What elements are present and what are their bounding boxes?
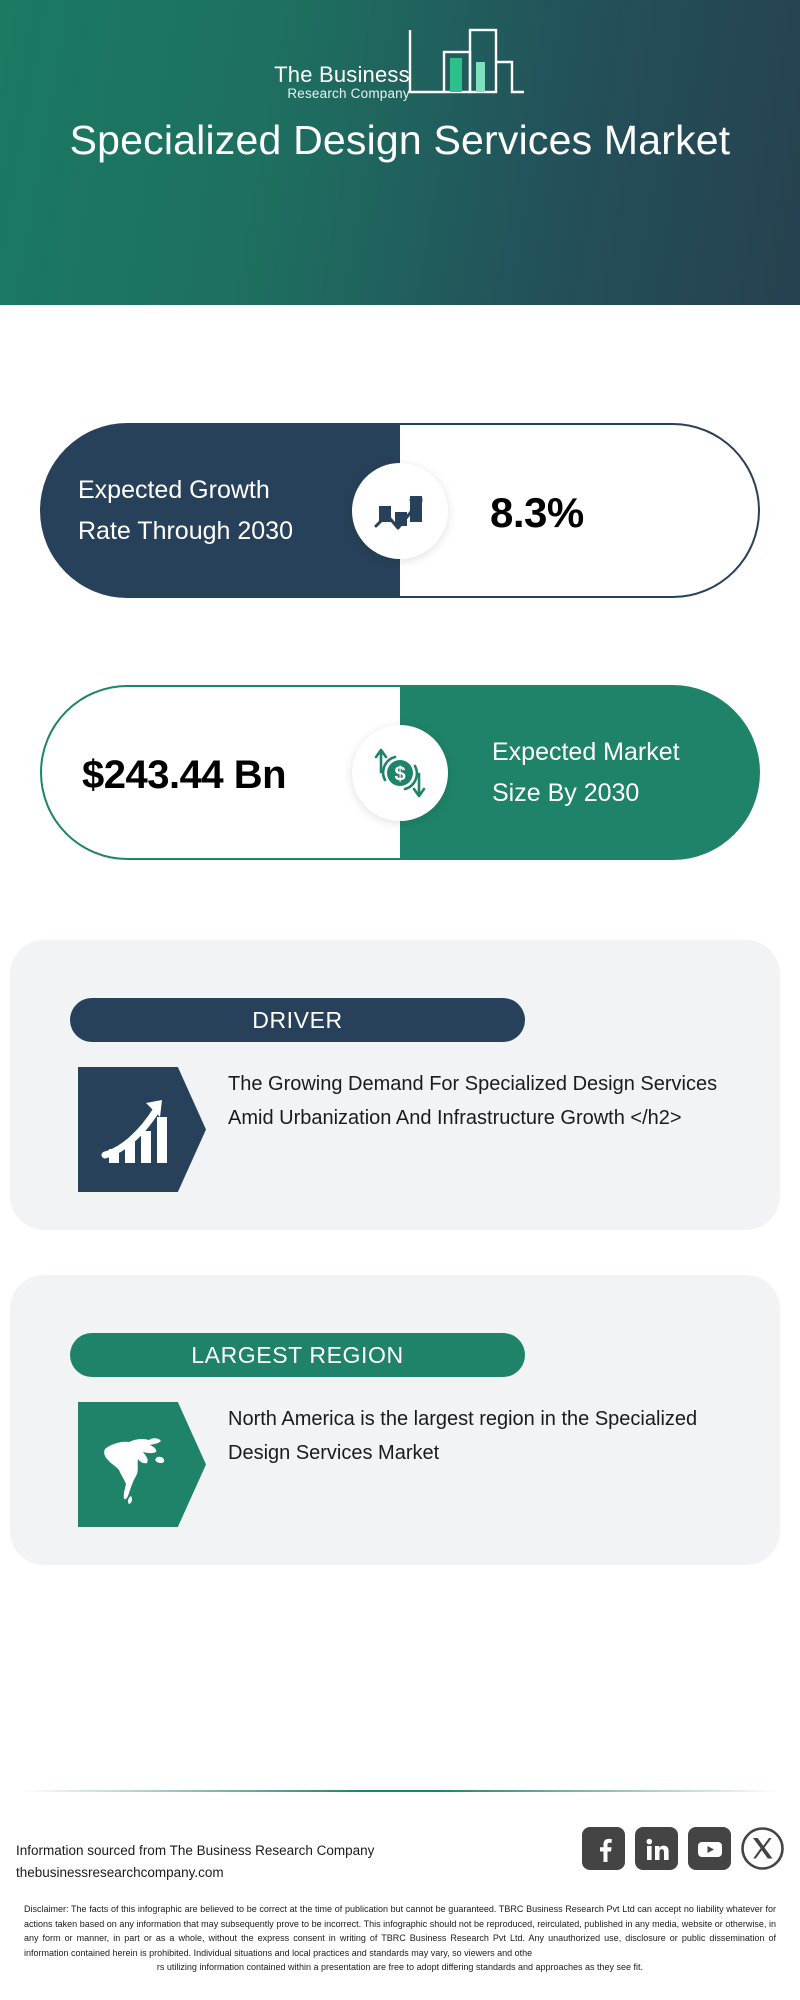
- stat-value-panel: $243.44 Bn: [40, 685, 400, 860]
- stat-label-text: Expected Market Size By 2030: [400, 685, 760, 860]
- page-title: Specialized Design Services Market: [50, 115, 750, 165]
- stat-label-panel: Expected Growth Rate Through 2030: [40, 423, 400, 598]
- north-america-map-icon: [78, 1402, 206, 1527]
- logo-primary-text: The Business: [274, 63, 410, 86]
- growth-bar-chart-arrow-icon: [352, 463, 448, 559]
- logo-secondary-text: Research Company: [274, 86, 410, 103]
- driver-description: The Growing Demand For Specialized Desig…: [228, 1067, 780, 1192]
- stat-card-market-size: $243.44 Bn Expected Market Size By 2030 …: [40, 685, 760, 860]
- stat-value-text: $243.44 Bn: [42, 687, 400, 860]
- footer-divider: [20, 1790, 780, 1792]
- bar-chart-logo-mark: [408, 26, 526, 107]
- largest-region-description: North America is the largest region in t…: [228, 1402, 780, 1527]
- disclaimer-main-text: Disclaimer: The facts of this infographi…: [24, 1904, 776, 1958]
- company-logo: The Business Research Company: [0, 26, 800, 107]
- svg-text:$: $: [394, 763, 405, 785]
- largest-region-panel: LARGEST REGION North America is the larg…: [10, 1275, 780, 1565]
- stat-card-growth-rate: Expected Growth Rate Through 2030 8.3%: [40, 423, 760, 598]
- stat-label-panel: Expected Market Size By 2030: [400, 685, 760, 860]
- x-twitter-icon[interactable]: [741, 1827, 784, 1870]
- social-links: [582, 1827, 784, 1870]
- largest-region-pill-label: LARGEST REGION: [70, 1333, 525, 1377]
- header-banner: The Business Research Company Specialize…: [0, 0, 800, 305]
- footer-source: Information sourced from The Business Re…: [16, 1840, 374, 1885]
- driver-panel: DRIVER The Growing Demand For Specialize…: [10, 940, 780, 1230]
- footer-disclaimer: Disclaimer: The facts of this infographi…: [24, 1902, 776, 1975]
- driver-pill-label: DRIVER: [70, 998, 525, 1042]
- infographic-page: The Business Research Company Specialize…: [0, 0, 800, 2000]
- dollar-circulation-icon: $: [352, 725, 448, 821]
- stat-value-panel: 8.3%: [400, 423, 760, 598]
- linkedin-icon[interactable]: [635, 1827, 678, 1870]
- source-line-1: Information sourced from The Business Re…: [16, 1840, 374, 1862]
- rising-bar-chart-arrow-icon: [78, 1067, 206, 1192]
- youtube-icon[interactable]: [688, 1827, 731, 1870]
- stat-label-text: Expected Growth Rate Through 2030: [40, 423, 400, 598]
- stat-value-text: 8.3%: [400, 425, 758, 598]
- disclaimer-last-line: rs utilizing information contained withi…: [24, 1960, 776, 1975]
- source-line-2[interactable]: thebusinessresearchcompany.com: [16, 1862, 374, 1884]
- facebook-icon[interactable]: [582, 1827, 625, 1870]
